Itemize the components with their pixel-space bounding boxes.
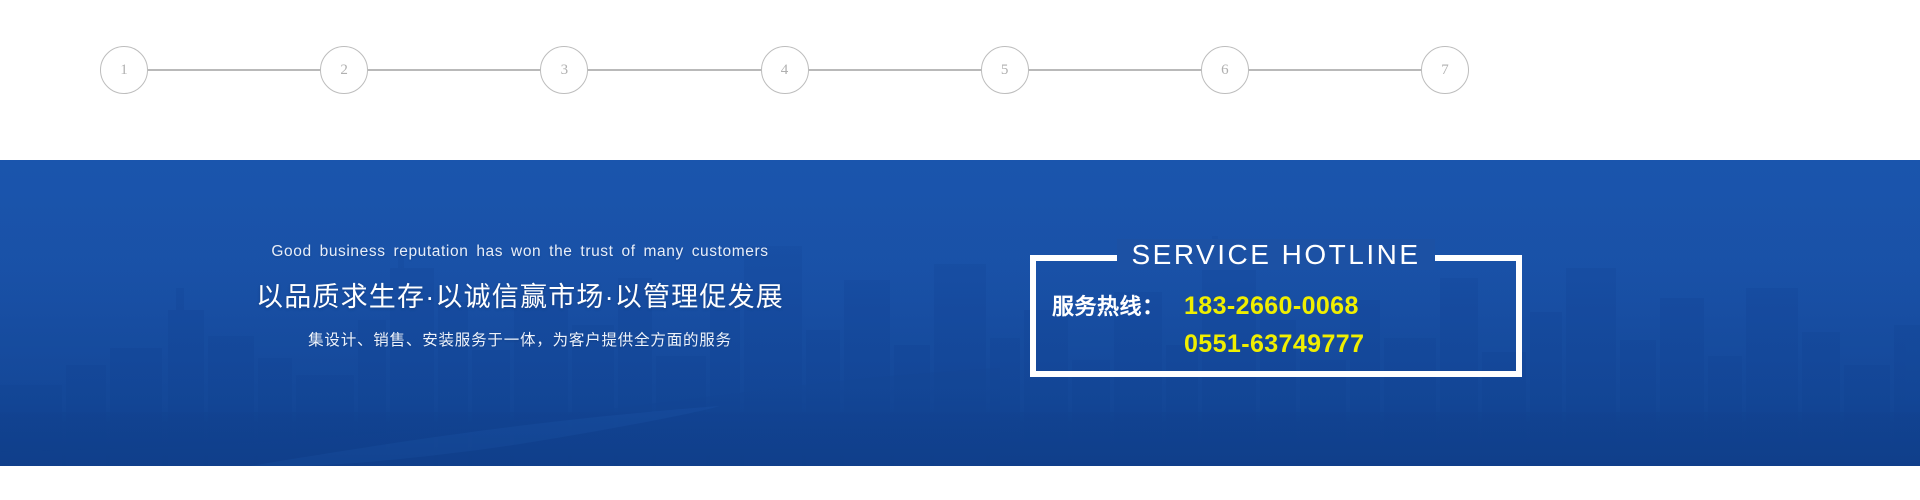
pagination-dot-1[interactable]: 1 xyxy=(100,46,148,94)
banner-copy-block: Good business reputation has won the tru… xyxy=(0,160,1040,466)
hotline-number-secondary[interactable]: 0551-63749777 xyxy=(1184,330,1364,359)
pagination-dot-5[interactable]: 5 xyxy=(981,46,1029,94)
subline-chinese: 集设计、销售、安装服务于一体，为客户提供全方面的服务 xyxy=(308,328,732,350)
footer-white-strip xyxy=(0,466,1920,500)
pagination-dot-6[interactable]: 6 xyxy=(1201,46,1249,94)
pagination-dot-2[interactable]: 2 xyxy=(320,46,368,94)
pagination-bar: 1234567 xyxy=(0,0,1920,160)
hotline-title: SERVICE HOTLINE xyxy=(1030,236,1522,274)
hotline-number-primary[interactable]: 183-2660-0068 xyxy=(1184,292,1359,321)
hotline-row-secondary: 服务热线： 0551-63749777 xyxy=(1052,327,1522,359)
headline-chinese: 以品质求生存·以诚信赢市场·以管理促发展 xyxy=(256,275,784,314)
pagination-dot-3[interactable]: 3 xyxy=(540,46,588,94)
hotline-number-list: 服务热线： 183-2660-0068 服务热线： 0551-63749777 xyxy=(1030,289,1522,359)
hotline-title-text: SERVICE HOTLINE xyxy=(1117,239,1434,270)
hotline-label: 服务热线： xyxy=(1052,289,1174,321)
service-hotline-box: SERVICE HOTLINE 服务热线： 183-2660-0068 服务热线… xyxy=(1030,255,1522,377)
hotline-row-primary: 服务热线： 183-2660-0068 xyxy=(1052,289,1522,321)
promo-banner: Good business reputation has won the tru… xyxy=(0,160,1920,466)
banner-page: 1234567 xyxy=(0,0,1920,500)
tagline-english: Good business reputation has won the tru… xyxy=(271,243,768,261)
pagination-dot-7[interactable]: 7 xyxy=(1421,46,1469,94)
pagination-dot-4[interactable]: 4 xyxy=(761,46,809,94)
